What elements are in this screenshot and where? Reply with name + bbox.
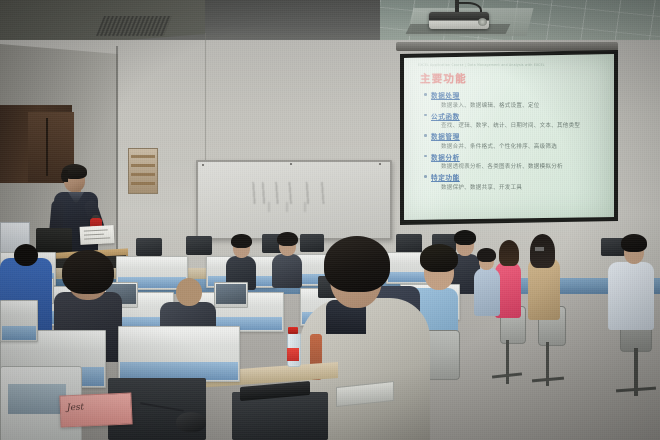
projection-screen: EXCEL Application Course | Data Manageme… <box>404 54 614 220</box>
slide-section: 数据分析 数据透视表分析、各类图表分析、数据模拟分析 <box>422 152 608 171</box>
whiteboard-screw <box>202 164 204 166</box>
student-hair <box>477 248 496 262</box>
monitor-back <box>136 238 162 256</box>
slide-section-detail: 查找、逻辑、数学、统计、日期时间、文本、其他类型 <box>422 121 608 129</box>
slide-section-heading: 数据分析 <box>422 152 608 162</box>
student-hair <box>324 236 390 292</box>
student-body <box>272 254 302 288</box>
slide-section-heading: 数据管理 <box>422 131 608 141</box>
pink-card-text: Jest <box>67 403 85 414</box>
wall-notice-board <box>128 148 158 194</box>
student-head <box>14 244 38 266</box>
slide-section: 数据处理 数据录入、数据编辑、格式设置、定位 <box>422 90 608 109</box>
projector-lens-icon <box>478 18 487 26</box>
podium-papers <box>80 225 115 245</box>
whiteboard-writing <box>248 182 342 204</box>
bottle-cap-icon <box>288 327 298 334</box>
student-hair <box>454 230 476 245</box>
projection-screen-housing <box>396 42 618 51</box>
slide-title: 主要功能 <box>420 71 467 86</box>
slide-section-detail: 数据透视表分析、各类图表分析、数据模拟分析 <box>422 162 608 170</box>
slide-bullet-list: 数据处理 数据录入、数据编辑、格式设置、定位 公式函数 查找、逻辑、数学、统计、… <box>422 90 608 193</box>
cabinet-door-seam <box>46 118 48 176</box>
slide-header-note: EXCEL Application Course | Data Manageme… <box>418 63 588 67</box>
slide-section-detail: 数据合并、条件格式、个性化排序、高级筛选 <box>422 142 608 150</box>
whiteboard-screw <box>379 163 381 165</box>
slide-section-heading: 数据处理 <box>422 90 608 100</box>
slide-section: 特定功能 数据保护、数据共享、开发工具 <box>422 172 608 191</box>
presenter-hair-side <box>61 170 68 182</box>
monitor-back <box>186 236 212 255</box>
student-body <box>608 262 654 330</box>
computer-mouse <box>176 412 206 432</box>
monitor-back <box>300 234 324 252</box>
student-hair <box>62 250 114 294</box>
student-head <box>176 278 202 306</box>
pink-note-card: Jest <box>59 392 132 427</box>
student-hair <box>277 232 298 246</box>
tower-panel <box>8 384 66 414</box>
slide-section-heading: 公式函数 <box>422 111 608 121</box>
student-hair <box>499 240 519 266</box>
slide-section-heading: 特定功能 <box>422 172 608 182</box>
slide-section: 公式函数 查找、逻辑、数学、统计、日期时间、文本、其他类型 <box>422 111 608 130</box>
workstation-partition <box>0 300 38 342</box>
ceiling-vent-icon <box>96 16 172 36</box>
student-body <box>474 268 500 316</box>
whiteboard-screw <box>290 163 292 165</box>
student-hair <box>420 244 458 272</box>
workstation-partition <box>118 326 240 382</box>
whiteboard-writing <box>262 202 322 212</box>
monitor-back <box>396 234 422 253</box>
slide-section: 数据管理 数据合并、条件格式、个性化排序、高级筛选 <box>422 131 608 150</box>
slide-section-detail: 数据录入、数据编辑、格式设置、定位 <box>422 101 608 109</box>
slide-section-detail: 数据保护、数据共享、开发工具 <box>422 183 608 191</box>
student-hair <box>231 234 252 248</box>
glasses-icon <box>534 246 545 252</box>
monitor <box>214 282 248 308</box>
classroom-photo: EXCEL Application Course | Data Manageme… <box>0 0 660 440</box>
student-hair <box>621 234 647 252</box>
bottle-label <box>287 348 299 361</box>
